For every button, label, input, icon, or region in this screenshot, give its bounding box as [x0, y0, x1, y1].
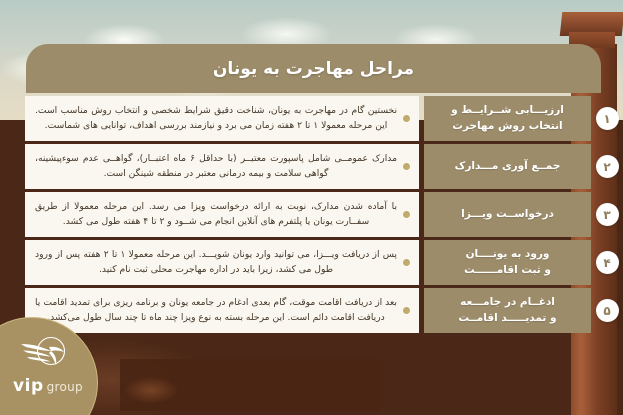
- step-row: ۵ ادغــام در جامـــعه و تمدیـــــد اقامـ…: [0, 288, 623, 333]
- bullet-icon: [403, 163, 410, 170]
- step-label-line2: انتخاب روش مهاجرت: [451, 119, 564, 134]
- bullet-icon: [403, 211, 410, 218]
- steps-list: ۱ ارزیـــابی شــرایــط و انتخاب روش مهاج…: [0, 96, 623, 333]
- step-description-card: پس از دریافت ویـــزا، می توانید وارد یون…: [25, 240, 419, 285]
- step-label-line1: ورود به یونــــان: [464, 247, 551, 262]
- logo-brand: vip: [13, 376, 44, 396]
- step-number: ۳: [596, 203, 619, 226]
- step-label-line2: و ثبت اقامــــــت: [464, 263, 551, 278]
- step-label-line1: ادغــام در جامـــعه: [458, 295, 556, 310]
- step-number: ۵: [596, 299, 619, 322]
- step-description: بعد از دریافت اقامت موقت، گام بعدی ادغام…: [35, 296, 397, 326]
- row-gap: [419, 288, 424, 333]
- step-row: ۳ درخواســت ویـــزا با آماده شدن مدارک، …: [0, 192, 623, 237]
- step-label: ارزیـــابی شــرایــط و انتخاب روش مهاجرت: [451, 103, 564, 133]
- title-bar: مراحل مهاجرت به یونان: [26, 44, 601, 93]
- page-title: مراحل مهاجرت به یونان: [213, 59, 414, 79]
- step-description-card: با آماده شدن مدارک، نوبت به ارائه درخواس…: [25, 192, 419, 237]
- step-description-card: نخستین گام در مهاجرت به یونان، شناخت دقی…: [25, 96, 419, 141]
- eagle-icon: [20, 334, 76, 374]
- step-label: ادغــام در جامـــعه و تمدیـــــد اقامــت: [458, 295, 556, 325]
- step-description-card: بعد از دریافت اقامت موقت، گام بعدی ادغام…: [25, 288, 419, 333]
- step-label-line1: جمــع آوری مـــدارک: [455, 159, 561, 174]
- step-label-panel: درخواســت ویـــزا: [424, 192, 591, 237]
- step-label: جمــع آوری مـــدارک: [455, 159, 561, 174]
- step-label: ورود به یونــــان و ثبت اقامــــــت: [464, 247, 551, 277]
- row-gap: [419, 144, 424, 189]
- row-gap: [419, 192, 424, 237]
- step-description: با آماده شدن مدارک، نوبت به ارائه درخواس…: [35, 200, 397, 230]
- step-label-line1: ارزیـــابی شــرایــط و: [451, 103, 564, 118]
- step-number: ۲: [596, 155, 619, 178]
- step-description-card: مدارک عمومــی شامل پاسپورت معتبــر (با ح…: [25, 144, 419, 189]
- logo-wordmark: vip group: [13, 376, 83, 396]
- step-number-badge: ۵: [591, 288, 623, 333]
- step-label: درخواســت ویـــزا: [461, 207, 554, 222]
- row-gap: [419, 96, 424, 141]
- step-row: ۲ جمــع آوری مـــدارک مدارک عمومــی شامل…: [0, 144, 623, 189]
- step-number-badge: ۱: [591, 96, 623, 141]
- step-row: ۴ ورود به یونــــان و ثبت اقامــــــت پس…: [0, 240, 623, 285]
- step-label-line2: و تمدیـــــد اقامــت: [458, 311, 556, 326]
- step-label-line1: درخواســت ویـــزا: [461, 207, 554, 222]
- bullet-icon: [403, 259, 410, 266]
- step-number-badge: ۲: [591, 144, 623, 189]
- step-label-panel: ادغــام در جامـــعه و تمدیـــــد اقامــت: [424, 288, 591, 333]
- step-label-panel: ارزیـــابی شــرایــط و انتخاب روش مهاجرت: [424, 96, 591, 141]
- logo-suffix: group: [47, 380, 83, 394]
- step-description: نخستین گام در مهاجرت به یونان، شناخت دقی…: [35, 104, 397, 134]
- step-label-panel: ورود به یونــــان و ثبت اقامــــــت: [424, 240, 591, 285]
- step-number-badge: ۴: [591, 240, 623, 285]
- step-number-badge: ۳: [591, 192, 623, 237]
- step-description: پس از دریافت ویـــزا، می توانید وارد یون…: [35, 248, 397, 278]
- stone-rubble: [120, 359, 380, 411]
- logo-content: vip group: [7, 334, 89, 396]
- bullet-icon: [403, 307, 410, 314]
- bullet-icon: [403, 115, 410, 122]
- step-number: ۴: [596, 251, 619, 274]
- step-label-panel: جمــع آوری مـــدارک: [424, 144, 591, 189]
- step-description: مدارک عمومــی شامل پاسپورت معتبــر (با ح…: [35, 152, 397, 182]
- step-row: ۱ ارزیـــابی شــرایــط و انتخاب روش مهاج…: [0, 96, 623, 141]
- row-gap: [419, 240, 424, 285]
- step-number: ۱: [596, 107, 619, 130]
